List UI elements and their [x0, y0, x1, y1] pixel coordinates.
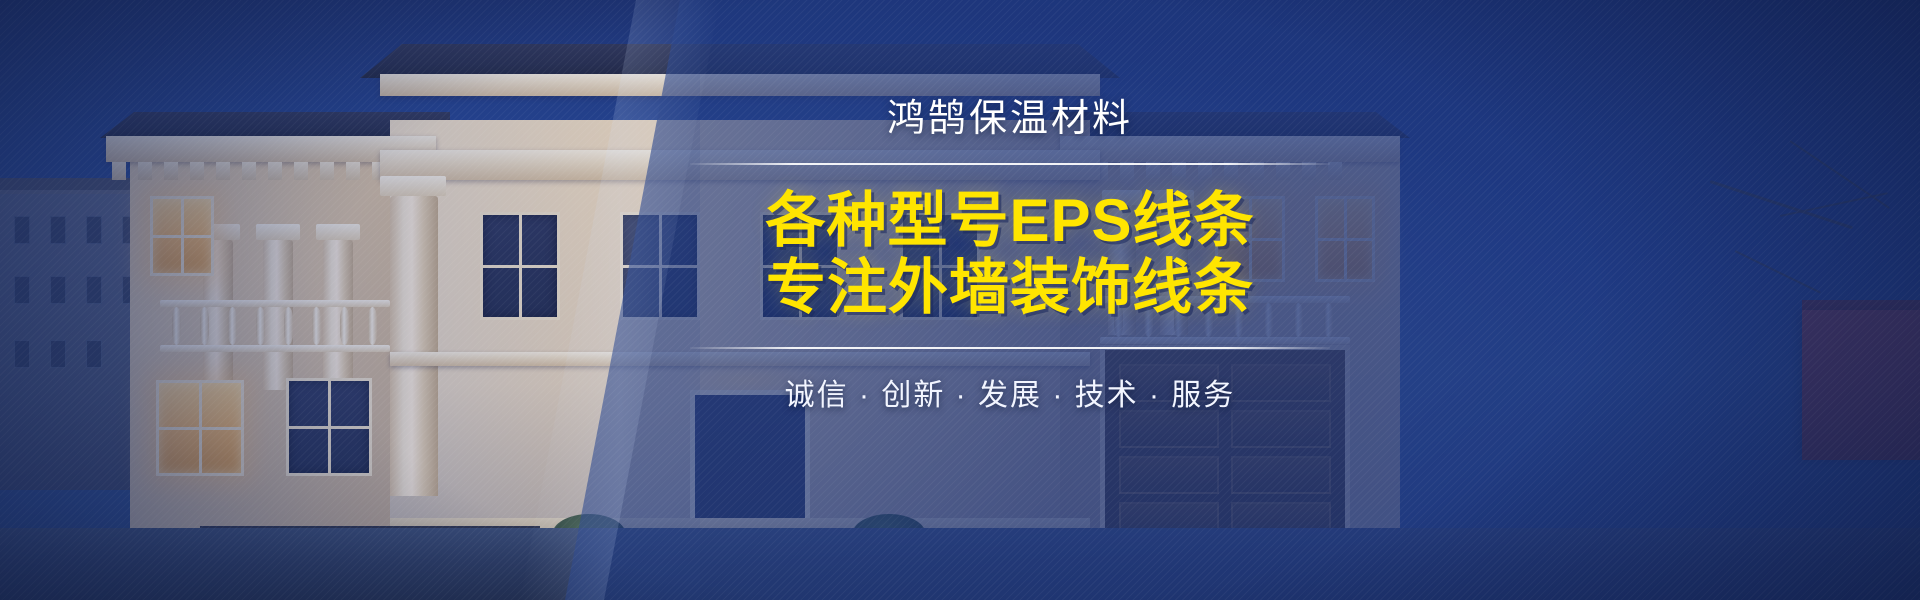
balustrade-left [160, 300, 390, 352]
brand-name: 鸿鹄保温材料 [690, 96, 1330, 144]
pilaster-capital [380, 176, 446, 196]
pilaster-center-left [390, 196, 438, 496]
headline-group: 各种型号EPS线条 专注外墙装饰线条 [690, 187, 1330, 321]
banner-text-block: 鸿鹄保温材料 各种型号EPS线条 专注外墙装饰线条 诚信 · 创新 · 发展 ·… [690, 96, 1330, 414]
headline-line-1: 各种型号EPS线条 [690, 187, 1330, 254]
red-container [1802, 310, 1920, 460]
foreground-ground [0, 528, 1920, 600]
window-dark [286, 378, 372, 476]
window-dark [620, 212, 700, 320]
window-lit [150, 196, 214, 276]
window-dark [480, 212, 560, 320]
window-lit [156, 380, 244, 476]
villa-roof-center [360, 44, 1120, 78]
divider-top [690, 163, 1330, 165]
promotional-banner: 鸿鹄保温材料 各种型号EPS线条 专注外墙装饰线条 诚信 · 创新 · 发展 ·… [0, 0, 1920, 600]
tagline: 诚信 · 创新 · 发展 · 技术 · 服务 [690, 370, 1330, 414]
cornice-top-center [380, 74, 1100, 96]
divider-bottom [690, 347, 1330, 349]
headline-line-2: 专注外墙装饰线条 [690, 254, 1330, 321]
column-capital [316, 224, 360, 240]
column-capital [256, 224, 300, 240]
